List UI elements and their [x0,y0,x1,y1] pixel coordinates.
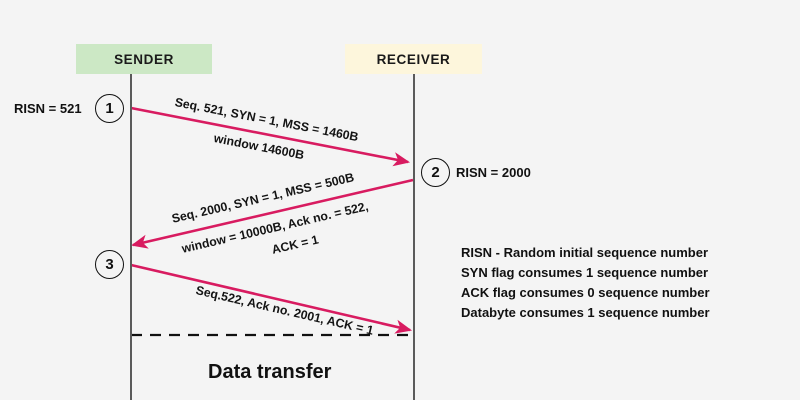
receiver-header-box: RECEIVER [345,44,482,74]
receiver-lifeline [413,74,415,400]
receiver-label: RECEIVER [377,52,451,67]
legend-item-risn: RISN - Random initial sequence number [461,245,710,262]
legend: RISN - Random initial sequence number SY… [461,245,710,322]
sender-label: SENDER [114,52,174,67]
step-marker-2-number: 2 [431,164,439,181]
message-arrow-3 [131,265,410,330]
sender-lifeline [130,74,132,400]
data-transfer-phase-label: Data transfer [208,361,331,384]
step-marker-3-number: 3 [105,256,113,273]
sender-risn-annotation: RISN = 521 [14,101,82,116]
step-marker-1: 1 [95,94,124,123]
step-marker-2: 2 [421,158,450,187]
sender-header-box: SENDER [76,44,212,74]
legend-item-ack: ACK flag consumes 0 sequence number [461,285,710,302]
legend-item-databyte: Databyte consumes 1 sequence number [461,305,710,322]
receiver-risn-annotation: RISN = 2000 [456,165,531,180]
step-marker-1-number: 1 [105,100,113,117]
step-marker-3: 3 [95,250,124,279]
legend-item-syn: SYN flag consumes 1 sequence number [461,265,710,282]
